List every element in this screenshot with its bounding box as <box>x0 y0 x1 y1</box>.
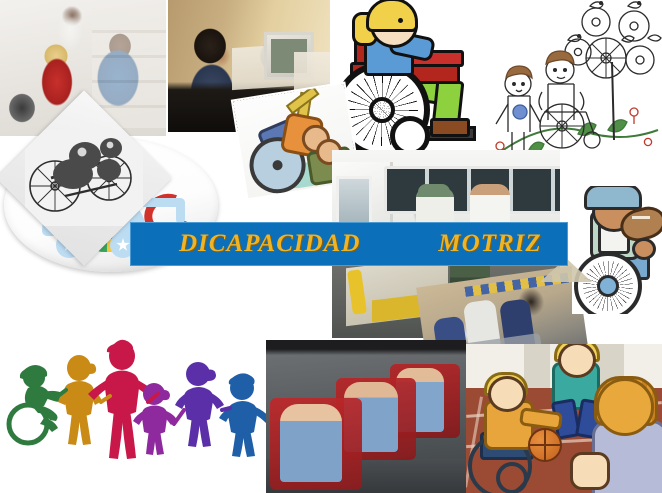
shoe-shape <box>430 118 470 137</box>
boy-hand <box>632 238 656 260</box>
figure-violet <box>175 362 224 447</box>
cap-shape <box>418 184 450 197</box>
hair-shape <box>366 0 418 32</box>
cartoon-boy-with-football <box>572 186 662 314</box>
figure-purple-child <box>133 383 177 455</box>
photo-bw-content <box>22 116 146 240</box>
seated-kid-head <box>488 376 526 412</box>
wheelchair-wheel-small <box>390 116 430 150</box>
wheel-hub <box>597 275 619 297</box>
cartoon-basketball-game <box>466 344 662 493</box>
pram-handle-grip <box>176 198 185 224</box>
child-1 <box>280 404 342 482</box>
figure-green-wheelchair <box>20 365 66 432</box>
title-banner: DICAPACIDAD MOTRIZ <box>130 222 568 266</box>
photo-classroom-wheelchairs <box>266 340 466 493</box>
title-word-disability: DICAPACIDAD <box>179 230 360 258</box>
football-laces <box>632 216 650 219</box>
baseball-cap-icon <box>584 186 642 210</box>
cartoon-girl-in-wheelchair <box>330 0 482 150</box>
basketball-icon <box>528 428 562 462</box>
family-silhouettes <box>2 336 270 462</box>
wall-panel-left <box>524 344 550 392</box>
figures-family-holding-hands <box>2 336 270 462</box>
poster-collage: rother, ch alike! <box>0 0 662 493</box>
title-word-motor: MOTRIZ <box>438 230 541 258</box>
bw-wheelchair-drawing <box>25 130 143 226</box>
figure-blue <box>219 373 270 457</box>
foreground-kid-hand <box>570 452 610 490</box>
eye-shape <box>398 18 403 23</box>
foreground-kid-head <box>596 378 654 436</box>
wheelchair-wheel-small <box>496 462 528 493</box>
figure-gold <box>58 355 102 445</box>
